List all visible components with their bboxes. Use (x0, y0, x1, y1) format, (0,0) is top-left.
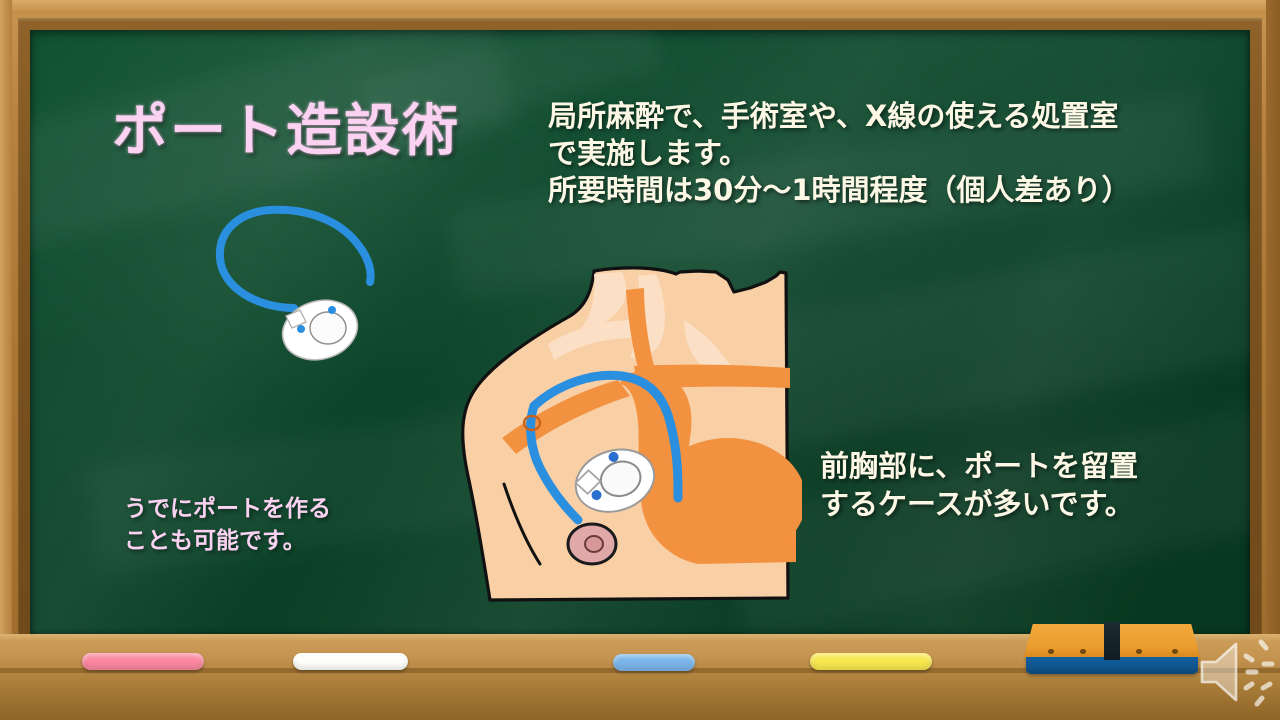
slide-root: ポート造設術 局所麻酔で、手術室や、X線の使える処置室 で実施します。 所要時間… (0, 0, 1280, 720)
sound-wave-dash (1246, 656, 1252, 660)
eraser-rivet (1080, 649, 1086, 654)
note-chest-line-1: 前胸部に、ポートを留置 (820, 448, 1210, 486)
note-arm-placement: うでにポートを作る ことも可能です。 (124, 494, 394, 557)
port-septum (310, 312, 346, 344)
eraser-rivet (1048, 649, 1054, 654)
page-title: ポート造設術 (112, 86, 460, 167)
nipple-center (585, 536, 603, 552)
chalk-pink[interactable] (82, 653, 204, 670)
port-marker-dot (328, 306, 336, 314)
eraser-strap (1104, 622, 1120, 660)
chest-shoulder-anatomy-diagram (398, 262, 802, 602)
sound-wave-dash (1257, 698, 1262, 704)
chalk-white[interactable] (293, 653, 408, 670)
speaker-volume-icon[interactable] (1196, 634, 1276, 710)
note-arm-line-1: うでにポートを作る (124, 494, 394, 526)
speaker-cone (1202, 644, 1236, 700)
eraser-rivet (1136, 649, 1142, 654)
note-procedure-line-2: で実施します。 (548, 135, 1198, 172)
port-marker-dot (297, 325, 305, 333)
note-procedure-info: 局所麻酔で、手術室や、X線の使える処置室 で実施します。 所要時間は30分〜1時… (548, 98, 1198, 209)
note-chest-placement: 前胸部に、ポートを留置 するケースが多いです。 (820, 448, 1210, 523)
catheter-tube (220, 210, 371, 308)
note-arm-line-2: ことも可能です。 (124, 526, 394, 558)
chalk-yellow[interactable] (810, 653, 932, 670)
note-procedure-line-1: 局所麻酔で、手術室や、X線の使える処置室 (548, 98, 1198, 135)
sound-wave-dash (1263, 684, 1270, 688)
note-procedure-line-3: 所要時間は30分〜1時間程度（個人差あり） (548, 172, 1198, 209)
blackboard-eraser[interactable] (1024, 624, 1200, 674)
frame-right-shadow (1266, 0, 1280, 720)
sound-wave-dash (1246, 684, 1252, 688)
frame-left-highlight (0, 0, 12, 720)
arm-port-device-diagram (198, 190, 398, 370)
chalk-blue[interactable] (613, 654, 695, 671)
frame-top-highlight (0, 0, 1280, 14)
note-chest-line-2: するケースが多いです。 (820, 486, 1210, 524)
sound-wave-dash (1261, 642, 1266, 648)
eraser-rivet (1172, 649, 1178, 654)
